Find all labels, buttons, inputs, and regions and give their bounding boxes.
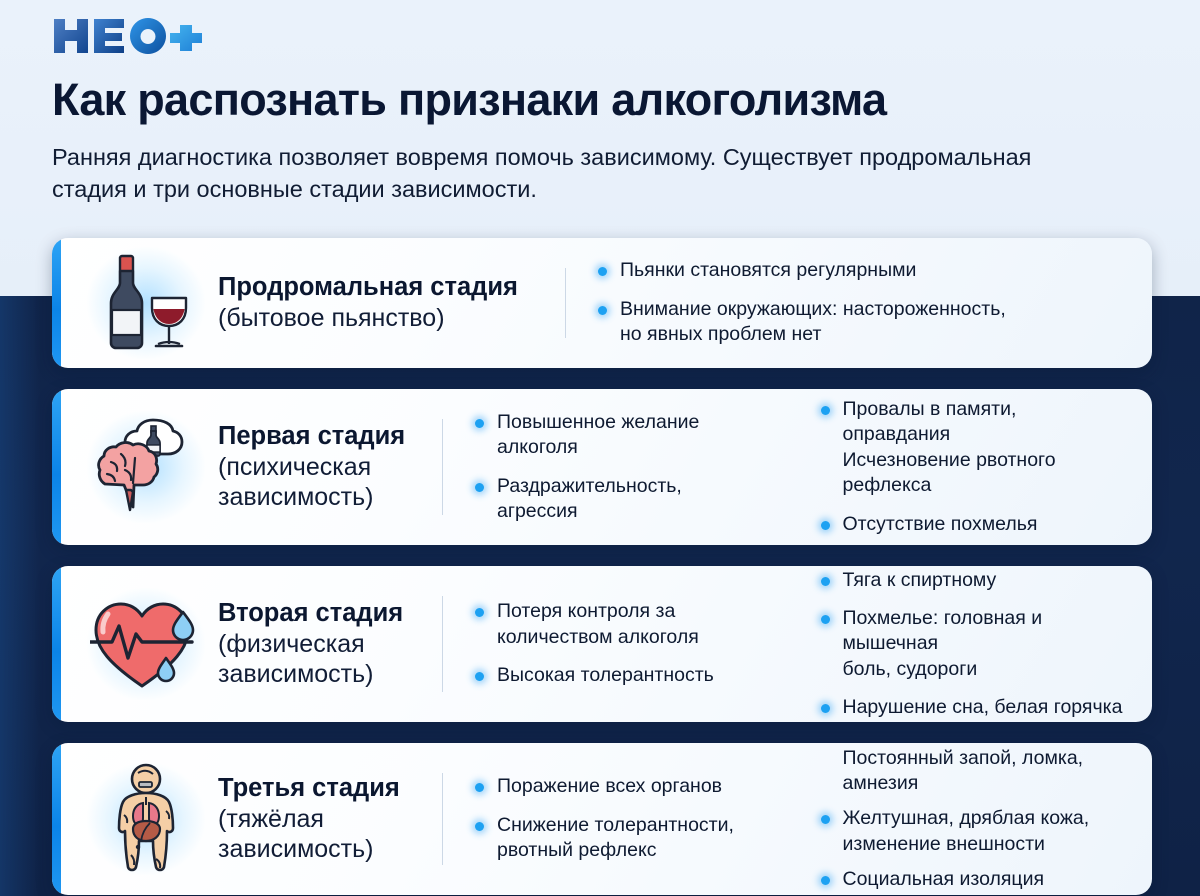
symptom-columns: Потеря контроля за количеством алкоголя … [443,580,1134,708]
stage-cards-list: Продромальная стадия (бытовое пьянство) … [52,238,1152,895]
list-item: Снижение толерантности, рвотный рефлекс [475,813,781,864]
bullet-text: Тяга к спиртному [843,569,997,591]
bullet-text-continuation: но явных проблем нет [620,322,1126,347]
symptom-column: Повышенное желание алкоголя Раздражитель… [443,410,789,524]
stage-title-main: Продромальная стадия [218,273,565,303]
bullet-text: Нарушение сна, белая горячка [843,696,1123,718]
wine-bottle-and-glass-icon [82,244,210,362]
list-item: Желтушная, дряблая кожа, изменение внешн… [821,806,1127,857]
bullet-text: Провалы в памяти, оправдания [843,398,1017,445]
bullet-text: Поражение всех органов [497,775,722,797]
bullet-text-continuation: изменение внешности [843,832,1127,857]
list-item: Поражение всех органов [475,774,781,799]
bullet-text: Снижение толерантности, [497,814,734,836]
bullet-text: Социальная изоляция [843,868,1045,890]
bullet-text: Желтушная, дряблая кожа, [843,807,1090,829]
stage-title-prodromal: Продромальная стадия (бытовое пьянство) [210,273,565,333]
bullet-text: Раздражительность, [497,475,682,497]
list-item: Пьянки становятся регулярными [598,258,1126,283]
bullet-text: Пьянки становятся регулярными [620,259,916,281]
list-item: Постоянный запой, ломка, амнезия [821,746,1127,797]
symptom-column: Провалы в памяти, оправдания Исчезновени… [789,397,1135,537]
symptom-column: Пьянки становятся регулярными Внимание о… [566,258,1134,347]
symptom-column: Поражение всех органов Снижение толерант… [443,774,789,863]
stage-title-sub: (тяжёлая зависимость) [218,804,442,864]
bullet-text: Потеря контроля за [497,600,675,622]
bullet-text-continuation: алкоголя [497,435,781,460]
symptom-column: Тяга к спиртному Похмелье: головная и мы… [789,568,1135,721]
brand-logo [52,14,1152,58]
list-item: Нарушение сна, белая горячка [821,695,1127,720]
list-item: Отсутствие похмелья [821,512,1127,537]
page-header: Как распознать признаки алкоголизма Ранн… [52,14,1152,205]
list-item: Провалы в памяти, оправдания Исчезновени… [821,397,1127,498]
bullet-text-continuation: рвотный рефлекс [497,838,781,863]
page-subtitle: Ранняя диагностика позволяет вовремя пом… [52,141,1112,205]
list-item: Социальная изоляция [821,867,1127,892]
list-item: Похмелье: головная и мышечная боль, судо… [821,606,1127,682]
bullet-text-continuation: количеством алкоголя [497,625,781,650]
brain-with-alcohol-thought-icon [82,408,210,526]
bullet-text-continuation: боль, судороги [843,657,1127,682]
bullet-text: Постоянный запой, ломка, амнезия [843,747,1084,794]
stage-title-main: Вторая стадия [218,599,442,629]
list-item: Потеря контроля за количеством алкоголя [475,599,781,650]
stage-card-first[interactable]: Первая стадия (психическая зависимость) … [52,389,1152,545]
symptom-columns: Поражение всех органов Снижение толерант… [443,757,1134,881]
stage-title-second: Вторая стадия (физическая зависимость) [210,599,442,689]
bullet-text-continuation: Исчезновение рвотного рефлекса [843,448,1127,499]
bullet-text: Повышенное желание [497,411,699,433]
bullet-text: Похмелье: головная и мышечная [843,607,1043,654]
stage-title-third: Третья стадия (тяжёлая зависимость) [210,774,442,864]
list-item: Раздражительность, агрессия [475,474,781,525]
symptom-column: Постоянный запой, ломка, амнезия Желтушн… [789,746,1135,893]
neo-plus-logo-icon [52,15,212,57]
stage-title-sub: (психическая зависимость) [218,452,442,512]
page-title: Как распознать признаки алкоголизма [52,76,1152,125]
symptom-columns: Пьянки становятся регулярными Внимание о… [566,252,1134,354]
bullet-text: Высокая толерантность [497,664,714,686]
stage-title-sub: (физическая зависимость) [218,629,442,689]
bullet-text: Внимание окружающих: настороженность, [620,298,1006,320]
symptom-columns: Повышенное желание алкоголя Раздражитель… [443,403,1134,531]
stage-title-sub: (бытовое пьянство) [218,303,565,333]
stage-title-main: Первая стадия [218,422,442,452]
stage-title-first: Первая стадия (психическая зависимость) [210,422,442,512]
symptom-column: Потеря контроля за количеством алкоголя … [443,599,789,688]
list-item: Тяга к спиртному [821,568,1127,593]
bullet-text: Отсутствие похмелья [843,513,1038,535]
list-item: Высокая толерантность [475,663,781,688]
heart-with-pulse-icon [82,585,210,703]
stage-card-second[interactable]: Вторая стадия (физическая зависимость) П… [52,566,1152,722]
list-item: Внимание окружающих: настороженность, но… [598,297,1126,348]
stage-card-third[interactable]: Третья стадия (тяжёлая зависимость) Пора… [52,743,1152,895]
human-body-organs-icon [82,760,210,878]
list-item: Повышенное желание алкоголя [475,410,781,461]
bullet-text-continuation: агрессия [497,499,781,524]
stage-title-main: Третья стадия [218,774,442,804]
stage-card-prodromal[interactable]: Продромальная стадия (бытовое пьянство) … [52,238,1152,368]
